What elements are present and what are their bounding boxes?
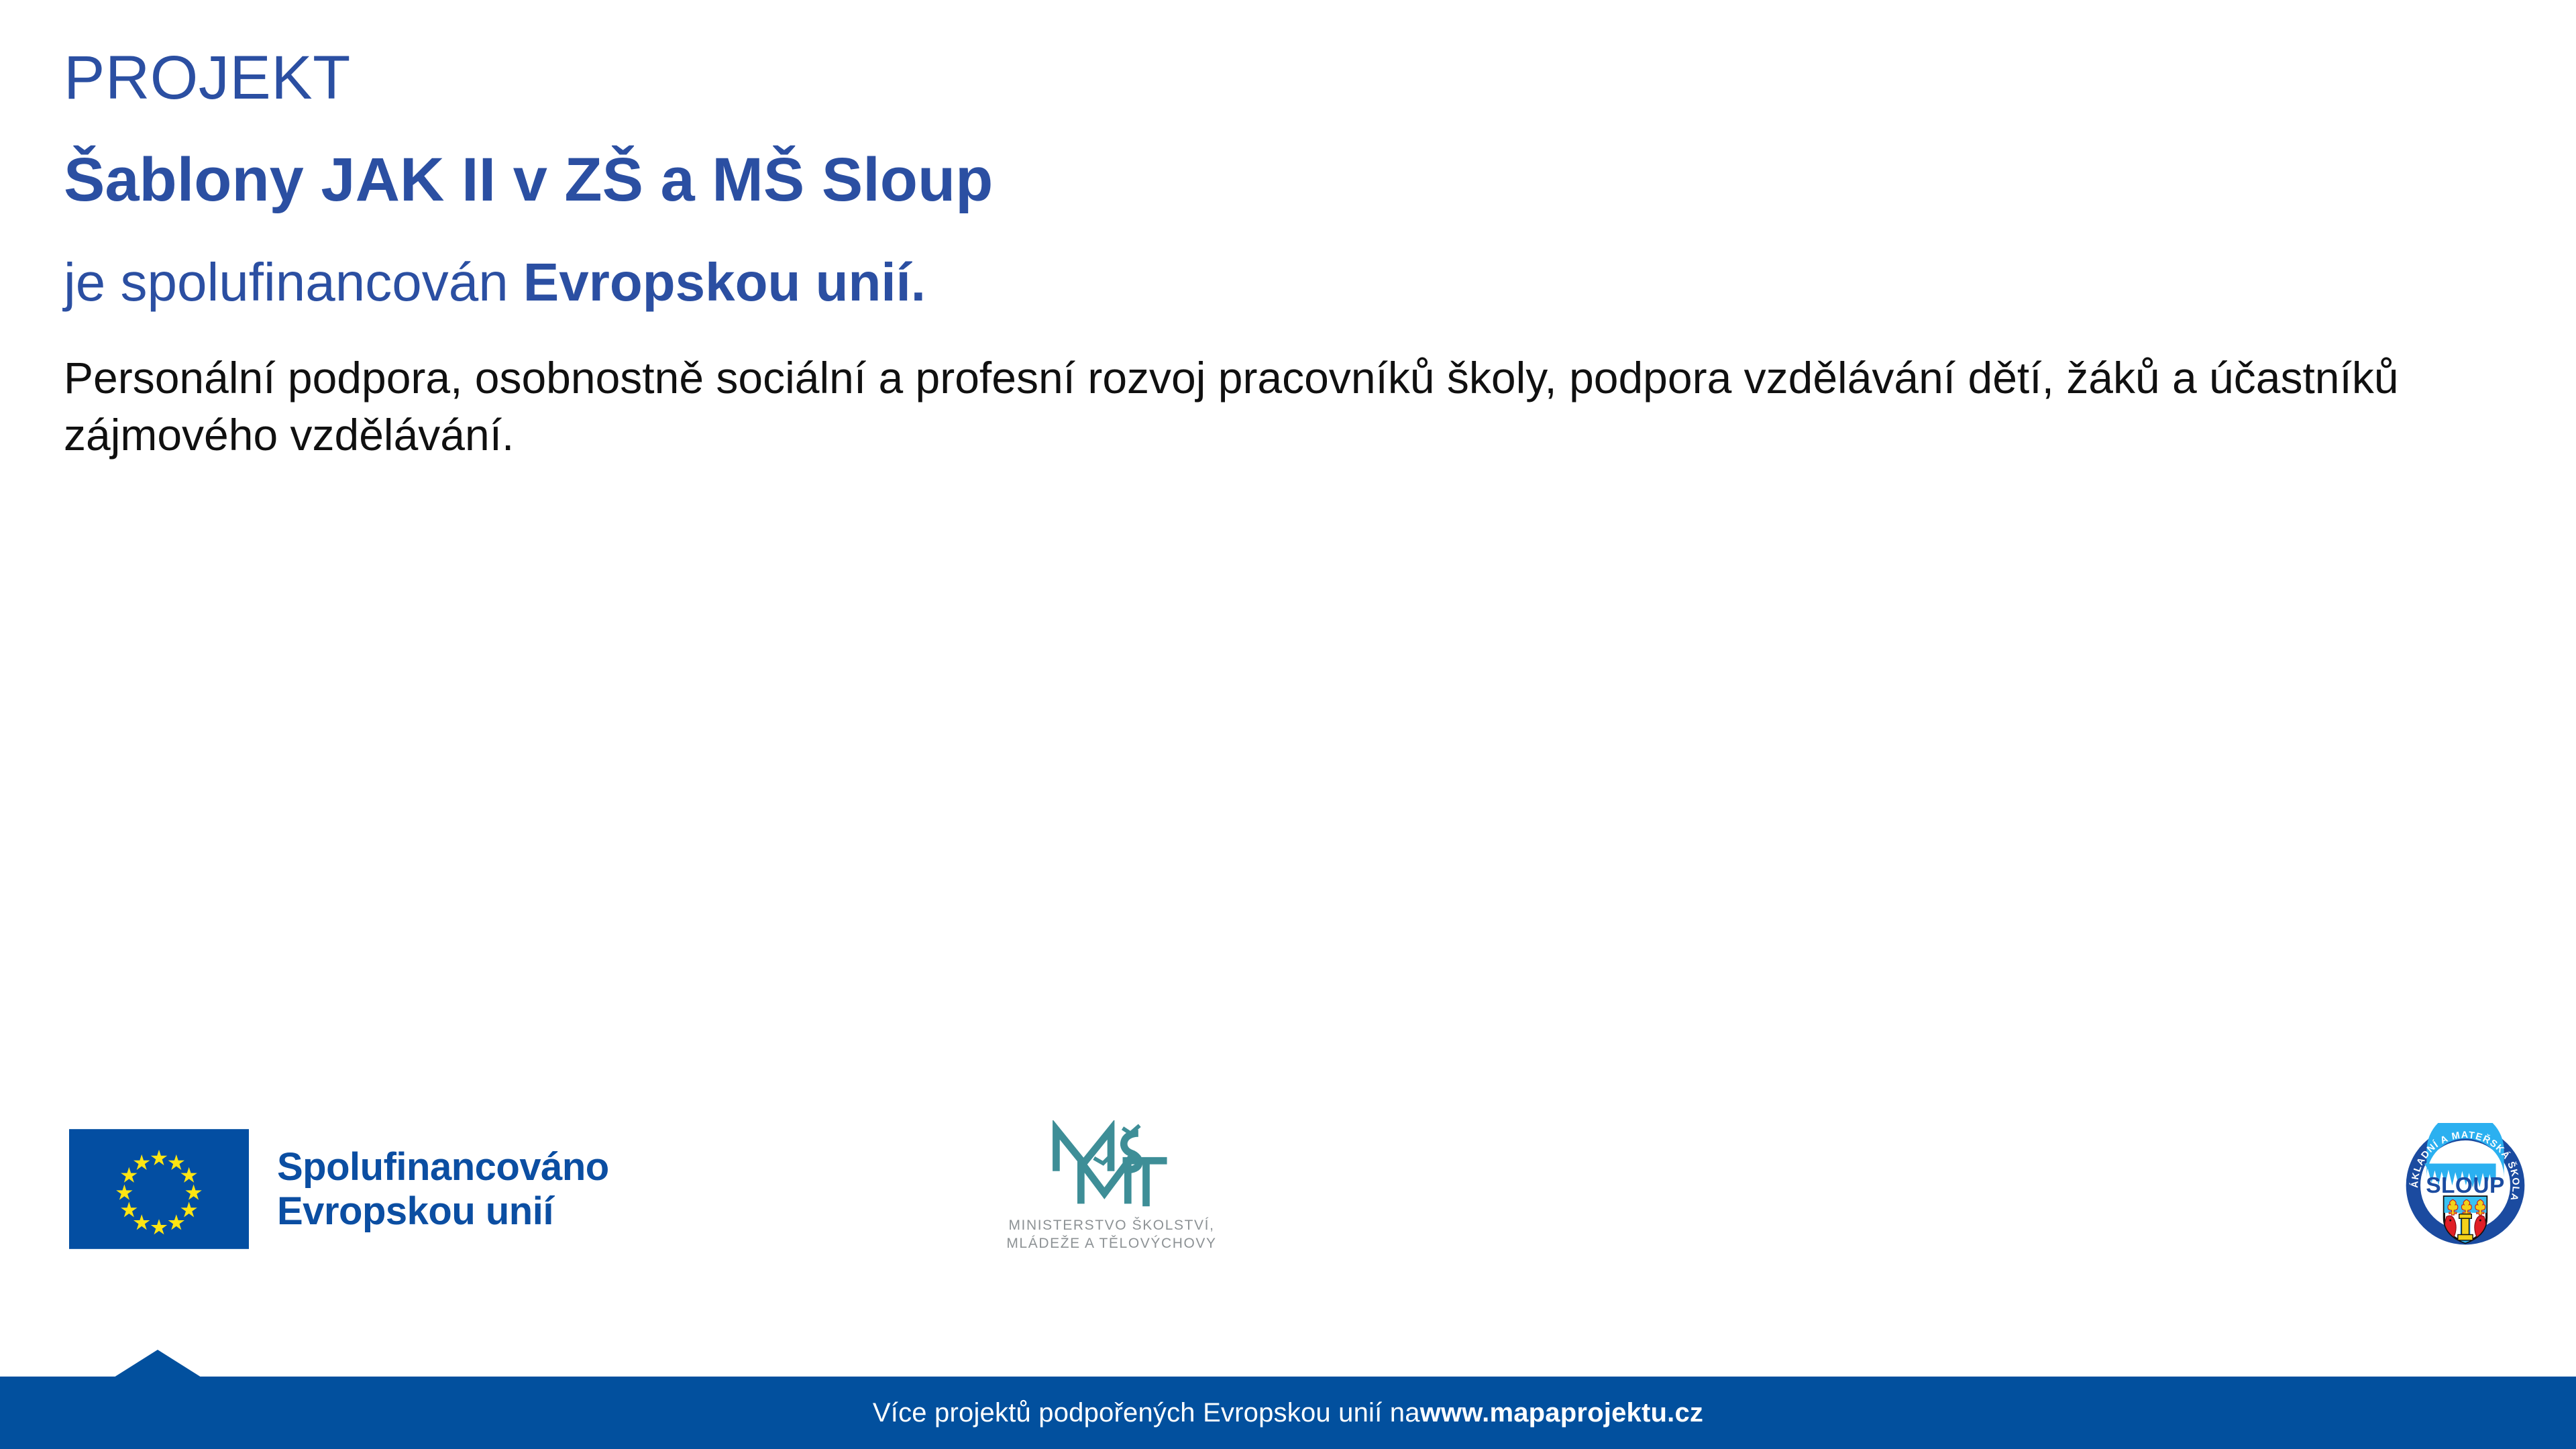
msmt-caption-line2: MLÁDEŽE A TĚLOVÝCHOVY [981,1235,1242,1253]
eu-logo-line1: Spolufinancováno [277,1145,609,1189]
footer-bar: Více projektů podpořených Evropskou unií… [0,1377,2576,1449]
eu-logo-line2: Evropskou unií [277,1189,609,1234]
eyebrow-label: PROJEKT [64,47,2519,109]
footer-text: Více projektů podpořených Evropskou unií… [0,1377,2576,1449]
footer-link-url[interactable]: www.mapaprojektu.cz [1420,1398,1703,1428]
text-block: PROJEKT Šablony JAK II v ZŠ a MŠ Sloup j… [64,47,2519,464]
page-title: Šablony JAK II v ZŠ a MŠ Sloup [64,148,2519,213]
school-logo: ZÁKLADNÍ A MATEŘSKÁ ŠKOLA SLOUP [2403,1123,2528,1248]
msmt-logo: MINISTERSTVO ŠKOLSTVÍ, MLÁDEŽE A TĚLOVÝC… [981,1120,1242,1253]
eu-flag-icon [69,1128,249,1250]
school-crest-icon: ZÁKLADNÍ A MATEŘSKÁ ŠKOLA SLOUP [2403,1123,2528,1248]
body-paragraph: Personální podpora, osobnostně sociální … [64,350,2465,465]
msmt-monogram-icon [1041,1120,1182,1212]
school-center-text: SLOUP [2426,1173,2505,1198]
triangle-peak-icon [114,1350,201,1377]
msmt-caption-line1: MINISTERSTVO ŠKOLSTVÍ, [981,1217,1242,1235]
footer-text-regular: Více projektů podpořených Evropskou unií… [873,1398,1420,1428]
subline: je spolufinancován Evropskou unií. [64,254,2519,311]
subline-regular-part: je spolufinancován [64,252,523,312]
logo-row: Spolufinancováno Evropskou unií [0,1114,2576,1275]
footer-peak-marker [114,1350,201,1377]
msmt-caption: MINISTERSTVO ŠKOLSTVÍ, MLÁDEŽE A TĚLOVÝC… [981,1217,1242,1253]
subline-bold-part: Evropskou unií. [523,252,926,312]
slide-canvas: PROJEKT Šablony JAK II v ZŠ a MŠ Sloup j… [0,0,2576,1449]
eu-logo-text: Spolufinancováno Evropskou unií [277,1145,609,1233]
eu-logo: Spolufinancováno Evropskou unií [69,1128,609,1250]
